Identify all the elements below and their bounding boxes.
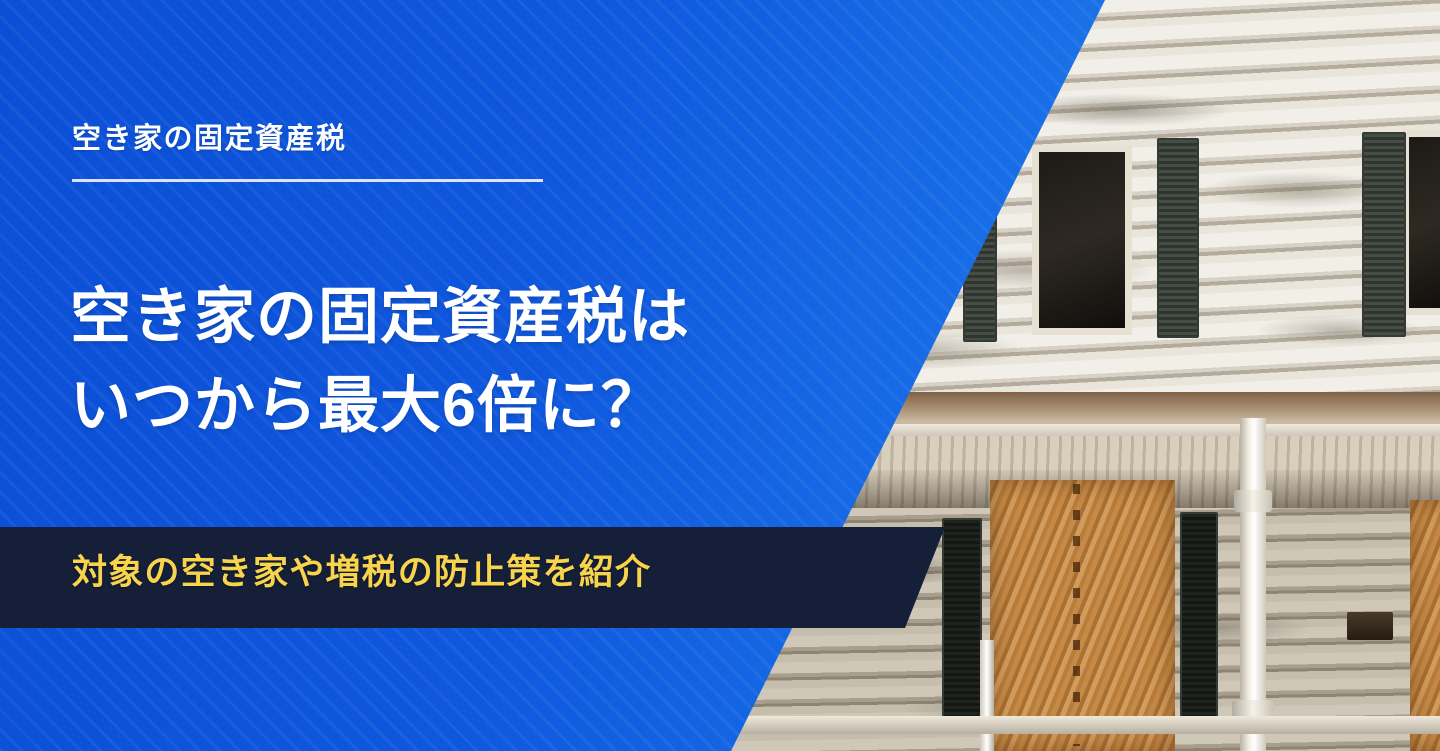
shutter-lower-left <box>942 518 982 733</box>
wall-fixture <box>1347 612 1393 640</box>
shutter-upper-right <box>1362 132 1406 337</box>
boarded-window-seam <box>1073 484 1080 746</box>
boarded-window-main <box>990 480 1175 751</box>
shutter-upper-middle <box>1157 138 1199 338</box>
headline-line-2: いつから最大6倍に？ <box>70 361 690 450</box>
headline-line-1: 空き家の固定資産税は <box>70 272 690 361</box>
broken-window-upper <box>1032 145 1132 335</box>
page-title: 空き家の固定資産税は いつから最大6倍に？ <box>70 272 690 450</box>
window-upper-right <box>1402 130 1440 315</box>
eyebrow-label: 空き家の固定資産税 <box>72 124 347 156</box>
eyebrow-divider <box>72 179 543 182</box>
hero-banner: 空き家の固定資産税 空き家の固定資産税は いつから最大6倍に？ 対象の空き家や増… <box>0 0 1440 751</box>
porch-railing <box>690 716 1440 734</box>
subtitle-text: 対象の空き家や増税の防止策を紹介 <box>72 552 651 594</box>
downspout <box>980 640 994 751</box>
shutter-lower-right <box>1180 512 1218 734</box>
porch-column-cap <box>1234 490 1272 512</box>
boarded-window-right <box>1410 500 1440 751</box>
